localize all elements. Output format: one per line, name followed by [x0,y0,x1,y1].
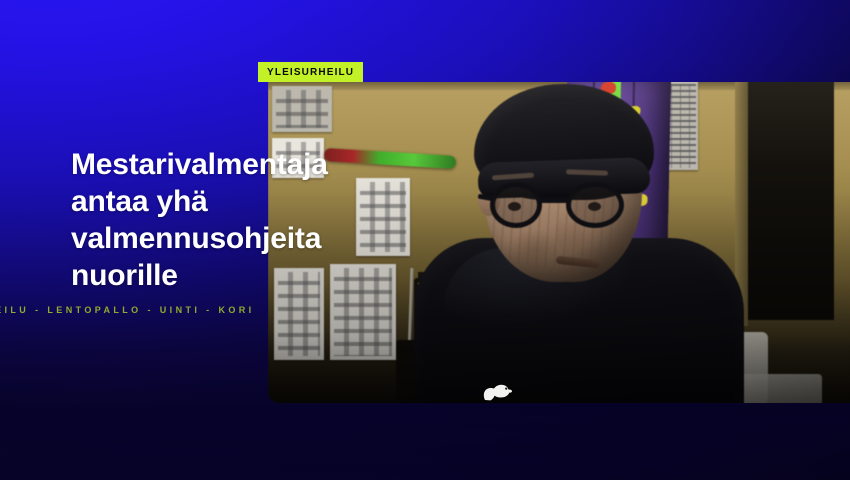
wall-poster [272,86,332,132]
wall-poster [356,178,410,256]
round-glasses [488,182,652,228]
coach-eye-right [588,202,601,211]
article-photo[interactable] [268,82,850,403]
glasses-bridge [540,198,568,203]
category-badge[interactable]: YLEISURHEILU [258,62,363,82]
coach-portrait [438,90,706,403]
doorway [748,82,834,320]
page-title[interactable]: Mestarivalmentaja antaa yhä valmennusohj… [71,146,341,294]
coach-eye-left [508,202,521,211]
sports-ticker[interactable]: SURHEILU - LENTOPALLO - UINTI - KORI [0,300,268,320]
promo-card: YLEISURHEILU Mestarivalmentaja antaa yhä… [0,0,850,480]
photo-image [268,82,850,403]
polar-bear-logo [480,378,514,402]
sports-ticker-text: SURHEILU - LENTOPALLO - UINTI - KORI [0,302,255,318]
